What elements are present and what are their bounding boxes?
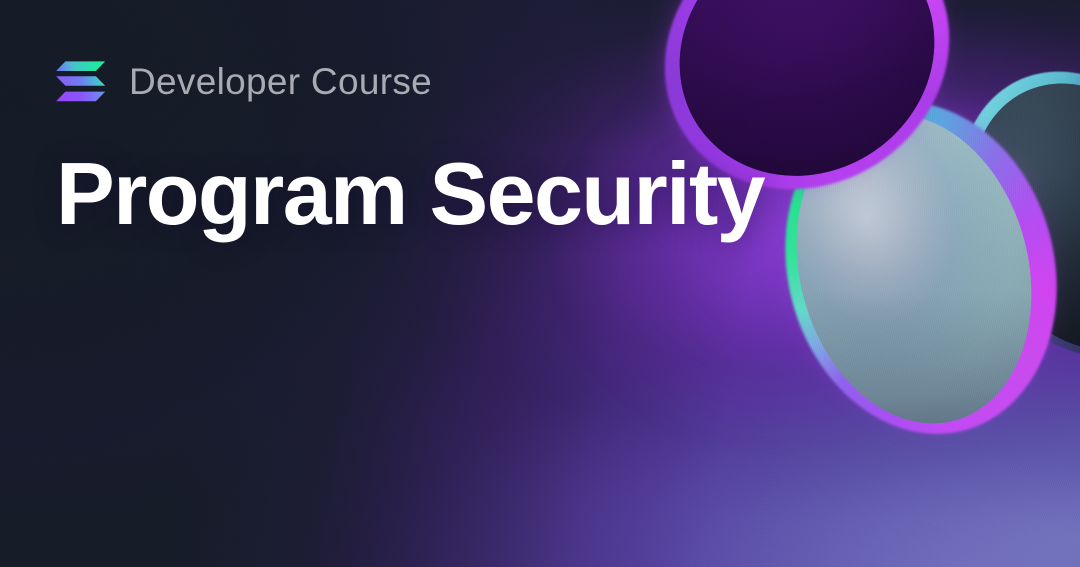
- course-banner: Developer Course Program Security: [0, 0, 1080, 567]
- banner-content: Developer Course Program Security: [0, 0, 1080, 567]
- eyebrow-label: Developer Course: [129, 63, 432, 100]
- eyebrow-row: Developer Course: [55, 60, 432, 103]
- solana-logo-icon: [55, 60, 106, 103]
- page-title: Program Security: [56, 147, 764, 240]
